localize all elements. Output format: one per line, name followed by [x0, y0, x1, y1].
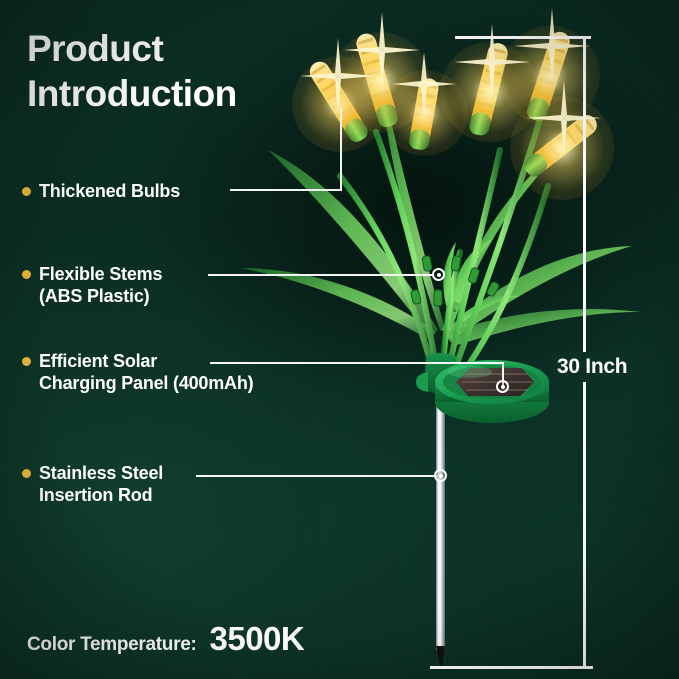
bullet-icon — [22, 469, 31, 478]
page-title: Product Introduction — [27, 26, 357, 116]
leader-line-thickened-bulbs — [230, 189, 342, 191]
dimension-tick-top — [455, 36, 591, 39]
bulb — [354, 31, 400, 129]
product-introduction-infographic: Product Introduction Thickened Bulbs Fle… — [0, 0, 679, 679]
center-leaves — [443, 238, 520, 322]
flexible-stems — [340, 120, 548, 400]
feature-label: Thickened Bulbs — [39, 180, 180, 202]
dimension-tick-bottom — [430, 666, 593, 669]
solar-cell — [456, 368, 534, 396]
bulb — [408, 77, 440, 151]
bulb — [468, 41, 510, 137]
feature-label: Stainless Steel Insertion Rod — [39, 462, 163, 506]
bullet-icon — [22, 357, 31, 366]
callout-marker-solar-panel — [496, 380, 509, 393]
leader-line-insertion-rod — [196, 475, 438, 477]
feature-label: Flexible Stems (ABS Plastic) — [39, 263, 162, 307]
bulb-glow — [440, 42, 540, 142]
color-temperature-label: Color Temperature: — [27, 634, 197, 656]
sparkle-icon — [526, 80, 602, 161]
feature-label: Efficient Solar Charging Panel (400mAh) — [39, 350, 253, 394]
color-temperature-value: 3500K — [210, 620, 305, 658]
bullet-icon — [22, 270, 31, 279]
feature-item-flexible-stems: Flexible Stems (ABS Plastic) — [22, 263, 162, 307]
callout-marker-insertion-rod — [434, 469, 447, 482]
callout-marker-flexible-stems — [432, 268, 445, 281]
bulb — [525, 29, 572, 123]
insertion-rod — [436, 404, 445, 672]
sparkle-icon — [392, 52, 456, 121]
feature-item-thickened-bulbs: Thickened Bulbs — [22, 180, 180, 202]
dimension-label: 30 Inch — [551, 352, 633, 382]
feature-item-solar-panel: Efficient Solar Charging Panel (400mAh) — [22, 350, 253, 394]
leader-line-flexible-stems — [208, 274, 434, 276]
bulb-glow — [382, 70, 468, 156]
feature-item-insertion-rod: Stainless Steel Insertion Rod — [22, 462, 163, 506]
stem-joints — [411, 255, 500, 306]
leader-line-thickened-bulbs-vertical — [340, 108, 342, 191]
bulb-glow — [510, 96, 614, 200]
bulb — [521, 111, 601, 180]
bullet-icon — [22, 187, 31, 196]
color-temperature-row: Color Temperature: 3500K — [27, 620, 304, 658]
leader-line-solar-panel — [210, 362, 504, 364]
sparkle-icon — [514, 8, 590, 89]
